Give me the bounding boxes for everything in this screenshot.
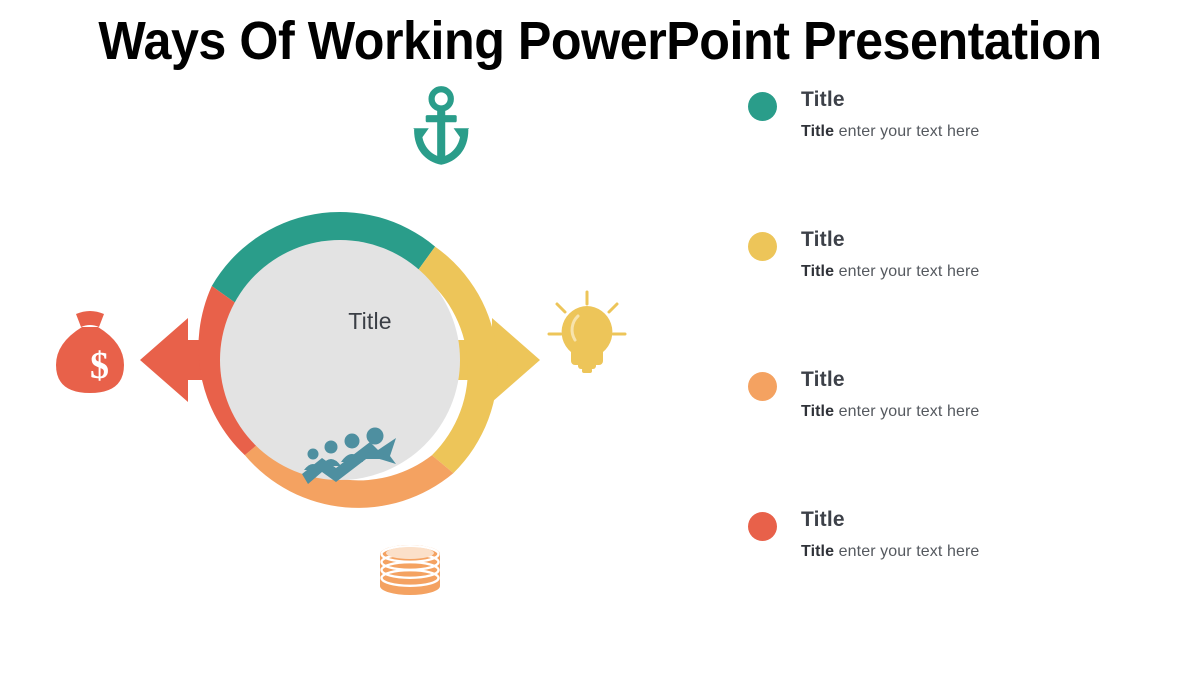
money-bag-icon: $ <box>56 311 124 393</box>
legend-item-3[interactable]: Title Title enter your text here <box>748 366 1168 506</box>
legend-description-rest: enter your text here <box>834 543 979 560</box>
legend-dot-icon <box>748 372 777 401</box>
lightbulb-icon <box>549 292 625 373</box>
legend-description: Title enter your text here <box>801 123 979 141</box>
legend-description: Title enter your text here <box>801 543 979 561</box>
legend-heading: Title <box>801 88 845 112</box>
legend-description-lead: Title <box>801 263 834 280</box>
legend-item-1[interactable]: Title Title enter your text here <box>748 86 1168 226</box>
legend-dot-icon <box>748 232 777 261</box>
legend-heading: Title <box>801 368 845 392</box>
page-title: Ways Of Working PowerPoint Presentation <box>42 8 1158 74</box>
legend-dot-icon <box>748 512 777 541</box>
legend-list: Title Title enter your text here Title T… <box>748 86 1168 646</box>
anchor-icon <box>413 89 469 164</box>
coins-icon <box>380 545 440 595</box>
legend-description-lead: Title <box>801 123 834 140</box>
legend-dot-icon <box>748 92 777 121</box>
center-disc <box>220 240 460 480</box>
diagram-svg: $ <box>30 70 690 630</box>
legend-description: Title enter your text here <box>801 263 979 281</box>
legend-description: Title enter your text here <box>801 403 979 421</box>
legend-description-rest: enter your text here <box>834 263 979 280</box>
legend-description-lead: Title <box>801 543 834 560</box>
legend-item-2[interactable]: Title Title enter your text here <box>748 226 1168 366</box>
legend-description-rest: enter your text here <box>834 403 979 420</box>
legend-item-4[interactable]: Title Title enter your text here <box>748 506 1168 646</box>
legend-description-rest: enter your text here <box>834 123 979 140</box>
cycle-diagram: $ Title <box>30 70 690 630</box>
svg-text:$: $ <box>90 345 109 387</box>
center-title-label: Title <box>270 308 470 335</box>
legend-description-lead: Title <box>801 403 834 420</box>
legend-heading: Title <box>801 228 845 252</box>
legend-heading: Title <box>801 508 845 532</box>
